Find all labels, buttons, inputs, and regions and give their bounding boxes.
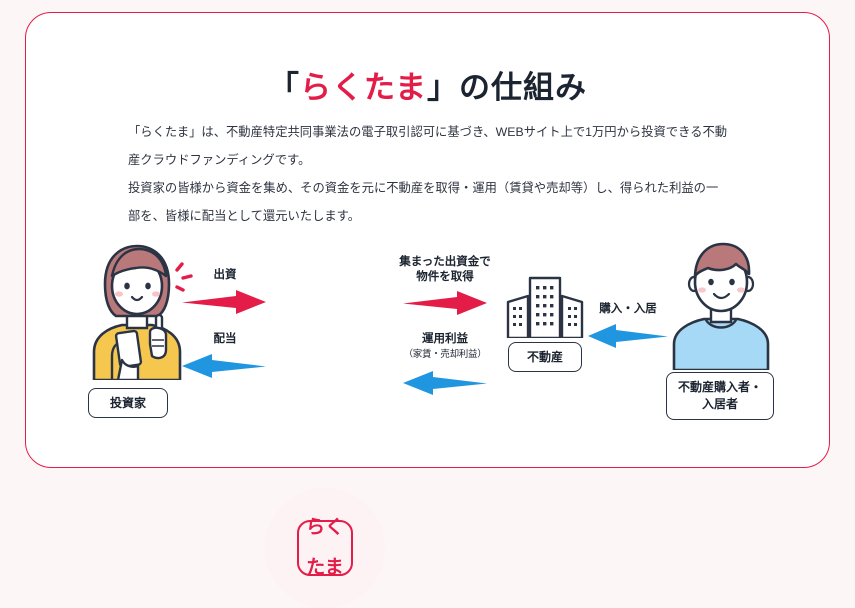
- infographic-page: 「らくたま」の仕組み 「らくたま」は、不動産特定共同事業法の電子取引認可に基づき…: [0, 0, 855, 496]
- intro-line-3: 投資家の皆様から資金を集め、その資金を元に不動産を取得・運用（賃貸や売却等）し、…: [128, 174, 738, 202]
- investor-pill: 投資家: [88, 388, 168, 418]
- investor-pill-label: 投資家: [110, 395, 146, 412]
- rakutama-logo-line1: らく: [306, 518, 344, 538]
- rakutama-logo: らくたま: [297, 520, 353, 576]
- property-pill-label: 不動産: [527, 349, 563, 366]
- rakutama-logo-line2: たま: [306, 558, 344, 578]
- title-suffix: 」の仕組み: [427, 70, 587, 105]
- buyer-man-illustration: [666, 240, 776, 370]
- flow-acquisition-arrow-right-icon: [403, 291, 487, 315]
- title-prefix: 「: [268, 70, 300, 105]
- intro-line-2: 産クラウドファンディングです。: [128, 146, 738, 174]
- flow-investment-label: 出資: [186, 268, 264, 283]
- intro-line-1: 「らくたま」は、不動産特定共同事業法の電子取引認可に基づき、WEBサイト上で1万…: [128, 118, 738, 146]
- flow-purchase-text: 購入・入居: [599, 303, 657, 315]
- flow-acquisition-label: 集まった出資金で 物件を取得: [385, 255, 505, 285]
- title-brand: らくたま: [300, 70, 427, 105]
- building-icon: [506, 276, 584, 338]
- flow-investment-arrow-right-icon: [182, 290, 266, 314]
- flow-acquisition-text-1: 集まった出資金で: [399, 256, 491, 268]
- flow-dividend-arrow-left-icon: [182, 354, 266, 378]
- investor-woman-illustration: [78, 240, 196, 380]
- buyer-pill-label-1: 不動産購入者・: [678, 379, 762, 396]
- buyer-pill: 不動産購入者・ 入居者: [666, 372, 774, 420]
- flow-acquisition-text-2: 物件を取得: [416, 271, 474, 283]
- flow-diagram: 投資家 出資 配当 らくたま 集まった出資金で 物件を取得: [0, 228, 855, 448]
- flow-operating-profit-sublabel: （家賃・売却利益）: [385, 347, 505, 362]
- flow-dividend-label: 配当: [186, 332, 264, 347]
- flow-purchase-arrow-left-icon: [588, 324, 668, 348]
- intro-paragraph: 「らくたま」は、不動産特定共同事業法の電子取引認可に基づき、WEBサイト上で1万…: [128, 118, 738, 230]
- flow-operating-profit-label: 運用利益 （家賃・売却利益）: [385, 332, 505, 362]
- flow-investment-text: 出資: [214, 269, 237, 281]
- flow-purchase-label: 購入・入居: [586, 302, 670, 317]
- buyer-pill-label-2: 入居者: [702, 396, 738, 413]
- property-pill: 不動産: [508, 342, 582, 372]
- rakutama-logo-text: らくたま: [306, 518, 344, 578]
- intro-line-4: 部を、皆様に配当として還元いたします。: [128, 202, 738, 230]
- flow-operating-profit-arrow-left-icon: [403, 371, 487, 395]
- page-title: 「らくたま」の仕組み: [0, 62, 855, 107]
- flow-operating-profit-text: 運用利益: [422, 333, 468, 345]
- flow-dividend-text: 配当: [214, 333, 237, 345]
